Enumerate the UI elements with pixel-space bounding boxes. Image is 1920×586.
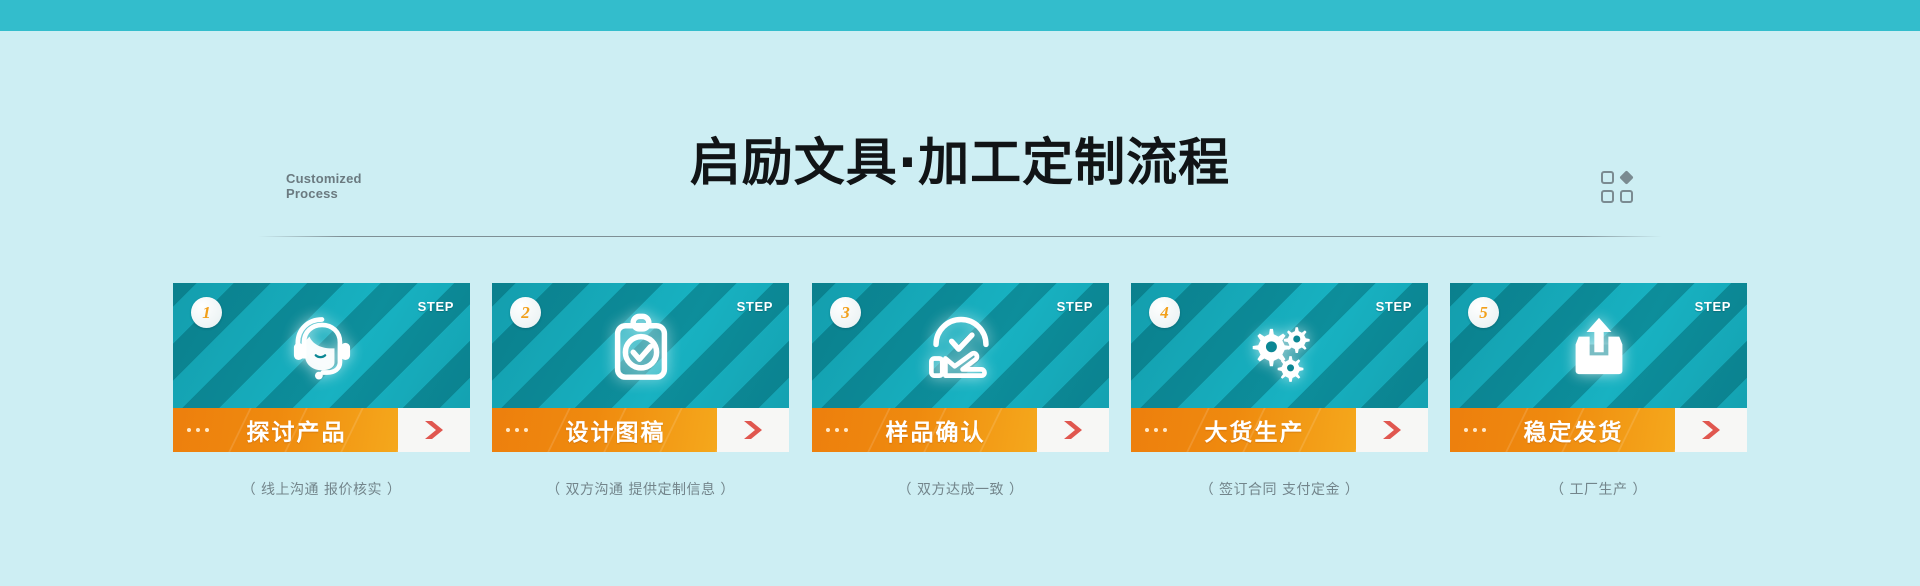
step-number-badge-2: 2 (510, 297, 541, 328)
step-word-label-2: STEP (737, 299, 773, 314)
step-caption-4: （ 签订合同 支付定金 ） (1131, 479, 1428, 499)
step-label-bar-2: 设计图稿 (492, 408, 789, 452)
page-header: Customized Process 启励文具·加工定制流程 (0, 31, 1920, 216)
chevron-right-icon (1698, 419, 1724, 441)
step-title-2: 设计图稿 (528, 413, 717, 447)
step-number-badge-1: 1 (191, 297, 222, 328)
step-title-block-3: 样品确认 (812, 408, 1037, 452)
step-word-label-3: STEP (1057, 299, 1093, 314)
next-arrow-1[interactable] (398, 408, 470, 452)
hand-check-icon (922, 308, 1000, 386)
next-arrow-4[interactable] (1356, 408, 1428, 452)
step-card-1[interactable]: 1 STEP 探讨产品 (173, 283, 470, 463)
step-word-label-5: STEP (1695, 299, 1731, 314)
next-arrow-2[interactable] (717, 408, 789, 452)
chevron-right-icon (740, 419, 766, 441)
top-accent-bar (0, 0, 1920, 31)
step-image-3: 3 STEP (812, 283, 1109, 408)
gears-icon (1241, 308, 1319, 386)
step-card-4[interactable]: 4 STEP (1131, 283, 1428, 463)
step-title-block-2: 设计图稿 (492, 408, 717, 452)
step-label-bar-3: 样品确认 (812, 408, 1109, 452)
step-image-2: 2 STEP (492, 283, 789, 408)
chevron-right-icon (421, 419, 447, 441)
step-number-badge-5: 5 (1468, 297, 1499, 328)
ellipsis-dots-icon (187, 428, 209, 432)
step-caption-1: （ 线上沟通 报价核实 ） (173, 479, 470, 499)
step-image-1: 1 STEP (173, 283, 470, 408)
steps-row: 1 STEP 探讨产品 (173, 283, 1751, 533)
step-card-3[interactable]: 3 STEP 样品确认 (812, 283, 1109, 463)
step-title-block-1: 探讨产品 (173, 408, 398, 452)
step-caption-2: （ 双方沟通 提供定制信息 ） (492, 479, 789, 499)
step-label-bar-5: 稳定发货 (1450, 408, 1747, 452)
step-image-5: 5 STEP (1450, 283, 1747, 408)
step-label-bar-4: 大货生产 (1131, 408, 1428, 452)
next-arrow-3[interactable] (1037, 408, 1109, 452)
shipping-box-upload-icon (1560, 308, 1638, 386)
step-word-label-1: STEP (418, 299, 454, 314)
chevron-right-icon (1060, 419, 1086, 441)
step-image-4: 4 STEP (1131, 283, 1428, 408)
step-title-1: 探讨产品 (209, 413, 398, 447)
step-title-3: 样品确认 (848, 413, 1037, 447)
header-divider (258, 236, 1662, 237)
ellipsis-dots-icon (506, 428, 528, 432)
step-title-block-4: 大货生产 (1131, 408, 1356, 452)
chevron-right-icon (1379, 419, 1405, 441)
headset-support-icon (283, 308, 361, 386)
ellipsis-dots-icon (826, 428, 848, 432)
step-card-2[interactable]: 2 STEP 设计图稿 (492, 283, 789, 463)
step-title-4: 大货生产 (1167, 413, 1356, 447)
step-word-label-4: STEP (1376, 299, 1412, 314)
step-number-badge-3: 3 (830, 297, 861, 328)
step-title-block-5: 稳定发货 (1450, 408, 1675, 452)
step-label-bar-1: 探讨产品 (173, 408, 470, 452)
step-title-5: 稳定发货 (1486, 413, 1675, 447)
process-infographic-page: Customized Process 启励文具·加工定制流程 1 STEP (0, 0, 1920, 586)
ellipsis-dots-icon (1464, 428, 1486, 432)
step-card-5[interactable]: 5 STEP 稳定发货 (1450, 283, 1747, 463)
clipboard-check-icon (602, 308, 680, 386)
next-arrow-5[interactable] (1675, 408, 1747, 452)
step-number-badge-4: 4 (1149, 297, 1180, 328)
step-caption-3: （ 双方达成一致 ） (812, 479, 1109, 499)
four-squares-diamond-icon (1601, 171, 1637, 207)
step-caption-5: （ 工厂生产 ） (1450, 479, 1747, 499)
ellipsis-dots-icon (1145, 428, 1167, 432)
